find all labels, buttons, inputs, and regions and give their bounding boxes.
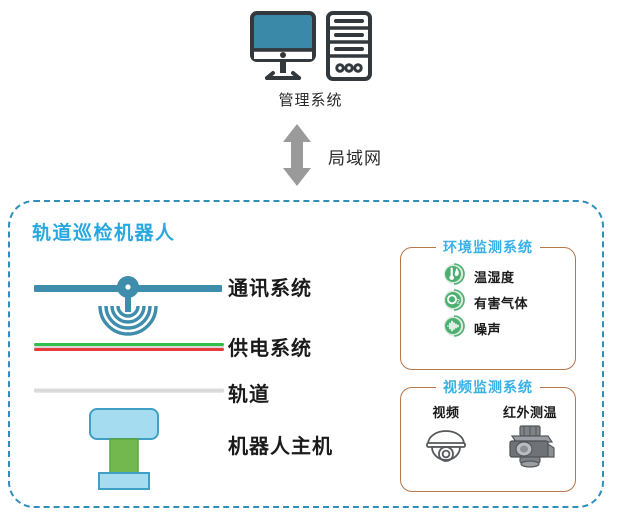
track-label: 轨道	[228, 378, 270, 407]
list-item-label: 视频	[415, 402, 477, 421]
lan-connection-block: 局域网	[272, 122, 452, 194]
antenna-wifi-icon	[93, 276, 163, 342]
rail-track-icon	[34, 388, 224, 393]
video-item-list: 视频 红外测温	[401, 388, 575, 472]
robot-system-panel: 轨道巡检机器人 通讯系统 供电系统 轨道 机器人主机 环境监测系统	[8, 200, 604, 508]
video-monitoring-panel: 视频监测系统 视频 红外测温	[400, 387, 576, 492]
list-item: 温湿度	[443, 263, 575, 289]
list-item-label: 红外测温	[499, 402, 561, 421]
list-item: 2 有害气体	[443, 289, 575, 315]
list-item-label: 有害气体	[474, 293, 528, 312]
list-item: 红外测温	[499, 402, 561, 472]
management-system-icons	[228, 8, 393, 86]
list-item: 视频	[415, 402, 477, 472]
robot-host-label: 机器人主机	[228, 430, 333, 459]
monitor-icon	[249, 10, 317, 86]
environment-monitoring-panel: 环境监测系统 温湿度	[400, 247, 576, 370]
svg-text:2: 2	[456, 299, 460, 306]
power-lines-icon	[34, 343, 224, 351]
environment-monitoring-panel-title: 环境监测系统	[436, 237, 540, 257]
power-system-label: 供电系统	[228, 332, 312, 361]
list-item: 噪声	[443, 315, 575, 341]
robot-system-panel-title: 轨道巡检机器人	[32, 218, 176, 245]
gas-o2-icon: 2	[443, 289, 465, 315]
thermal-camera-icon	[502, 453, 558, 472]
list-item-label: 噪声	[474, 319, 501, 338]
management-system-label: 管理系统	[228, 89, 393, 110]
list-item-label: 温湿度	[474, 267, 515, 286]
dome-camera-icon	[422, 453, 470, 472]
noise-waveform-icon	[443, 315, 465, 341]
server-tower-icon	[325, 10, 373, 86]
robot-body-icon	[76, 406, 172, 496]
video-monitoring-panel-title: 视频监测系统	[436, 377, 540, 397]
power-line-red	[34, 348, 224, 351]
lan-label: 局域网	[328, 144, 382, 169]
environment-item-list: 温湿度 2 有害气体	[401, 248, 575, 341]
double-arrow-vertical-icon	[280, 122, 314, 192]
management-system-block: 管理系统	[228, 8, 393, 118]
communication-system-label: 通讯系统	[228, 272, 312, 301]
thermometer-humidity-icon	[443, 263, 465, 289]
